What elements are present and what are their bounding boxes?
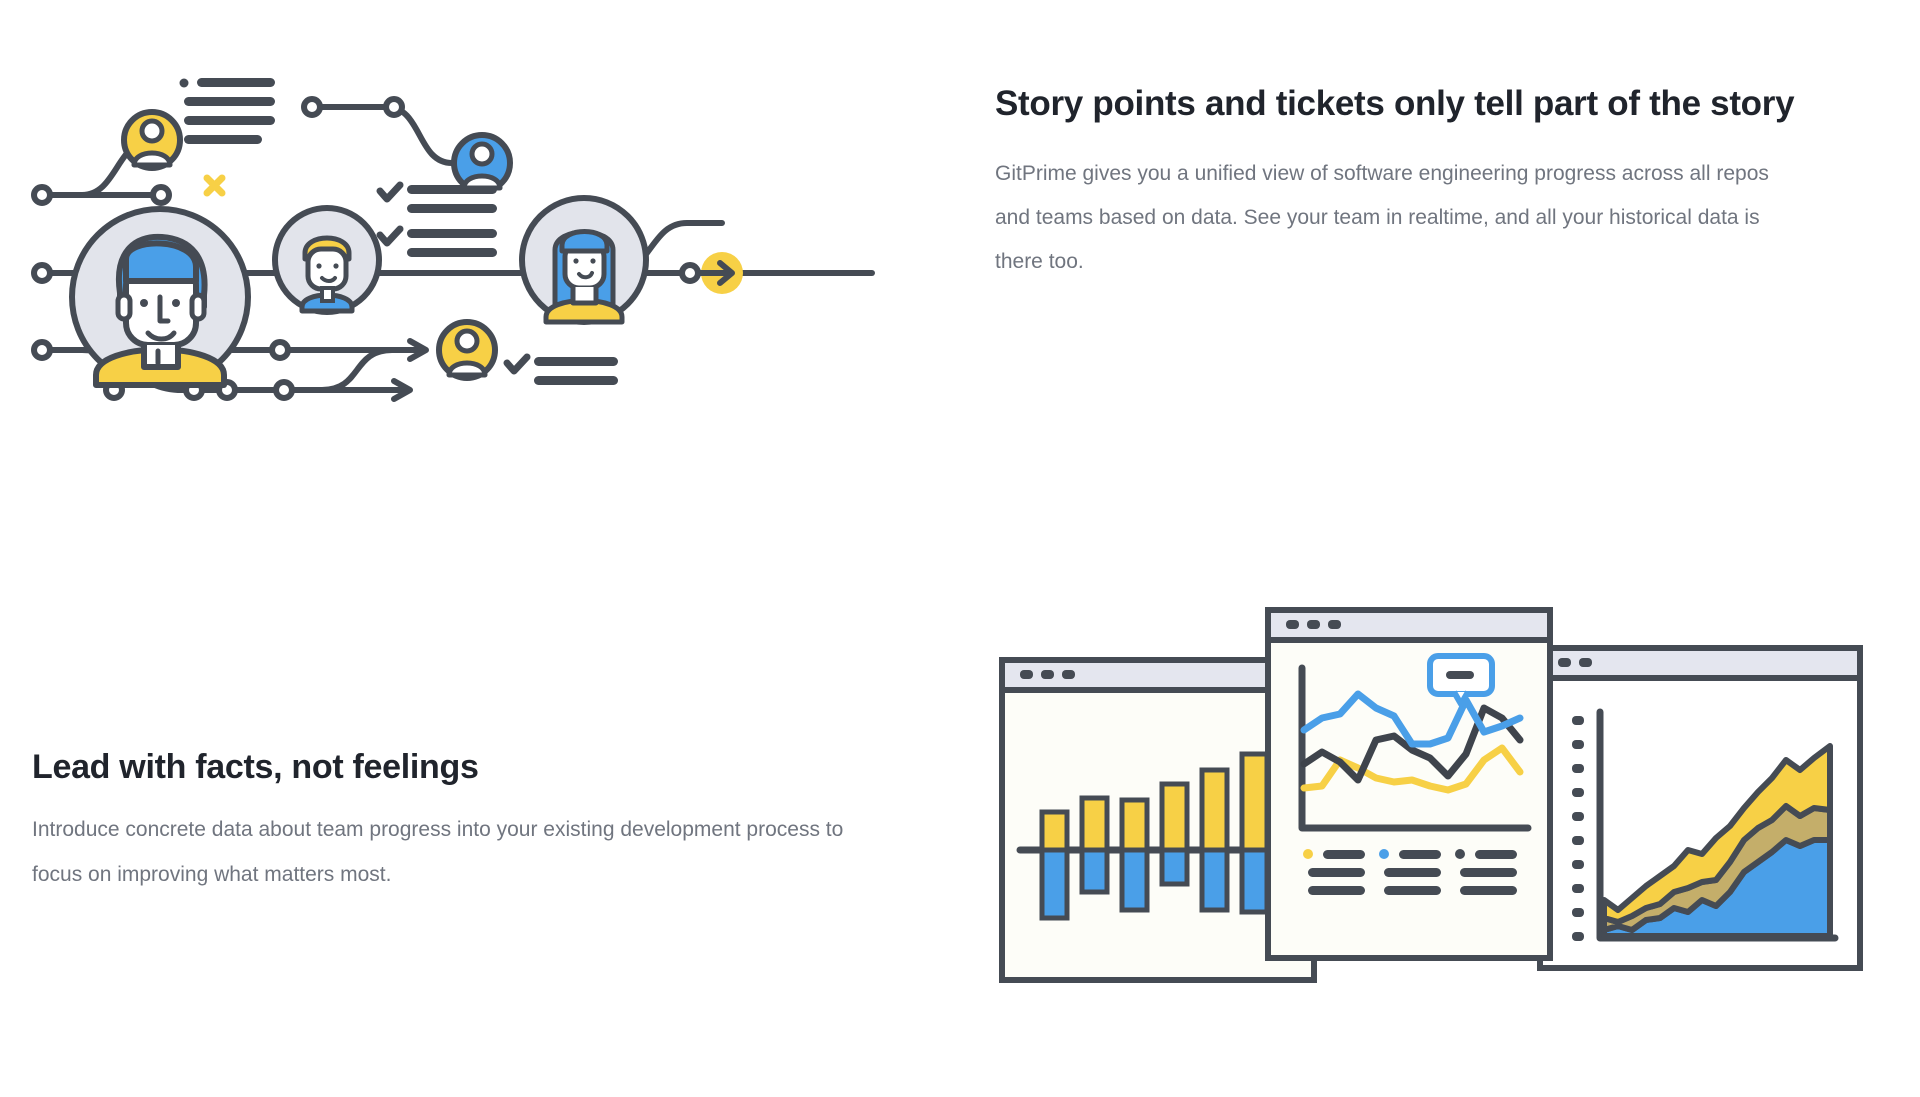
yellow-arrow-endpoint [700, 252, 743, 294]
legend-dot-dark [1455, 849, 1465, 859]
window-dots [1020, 670, 1075, 679]
page-title-facts: Lead with facts, not feelings [32, 745, 892, 789]
team-network-illustration [22, 45, 922, 425]
node [386, 99, 402, 115]
node [304, 99, 320, 115]
avatar-large-blue-hair [72, 209, 248, 385]
legend-dot-yellow [1303, 849, 1313, 859]
facts-text-column: Lead with facts, not feelings Introduce … [32, 745, 912, 897]
node [153, 187, 169, 203]
node [34, 342, 50, 358]
yellow-x-mark [207, 178, 222, 193]
body-text-story: GitPrime gives you a unified view of sof… [995, 152, 1805, 284]
node [34, 265, 50, 281]
window-area-chart [1540, 648, 1860, 968]
avatar-medium-yellow-hair [275, 208, 379, 312]
checklist-bottom [507, 357, 618, 385]
bulleted-lines-top [180, 78, 276, 144]
page-title-story: Story points and tickets only tell part … [995, 78, 1855, 130]
avatar-medium-blue-hair [522, 198, 646, 322]
story-text-column: Story points and tickets only tell part … [995, 78, 1875, 284]
line-chart-legend [1303, 849, 1517, 895]
window-line-chart [1268, 610, 1550, 958]
marketing-page: Story points and tickets only tell part … [0, 0, 1920, 1097]
section-facts: Lead with facts, not feelings Introduce … [0, 600, 1920, 1097]
connector-path-topmid [312, 107, 452, 163]
legend-dot-blue [1379, 849, 1389, 859]
checklist-mid [380, 185, 497, 257]
dashboard-windows-illustration [980, 600, 1880, 1020]
window-dots [1286, 620, 1341, 629]
node [272, 342, 288, 358]
avatar-small-yellow-bottom [439, 322, 495, 378]
node [682, 265, 698, 281]
node [276, 382, 292, 398]
connector-path-bottom4 [322, 350, 392, 390]
avatar-small-blue-top-right [454, 135, 510, 191]
section-story: Story points and tickets only tell part … [0, 0, 1920, 480]
avatar-small-yellow-top [124, 112, 180, 168]
body-text-facts: Introduce concrete data about team progr… [32, 807, 892, 897]
tooltip-callout [1430, 656, 1492, 704]
node [34, 187, 50, 203]
